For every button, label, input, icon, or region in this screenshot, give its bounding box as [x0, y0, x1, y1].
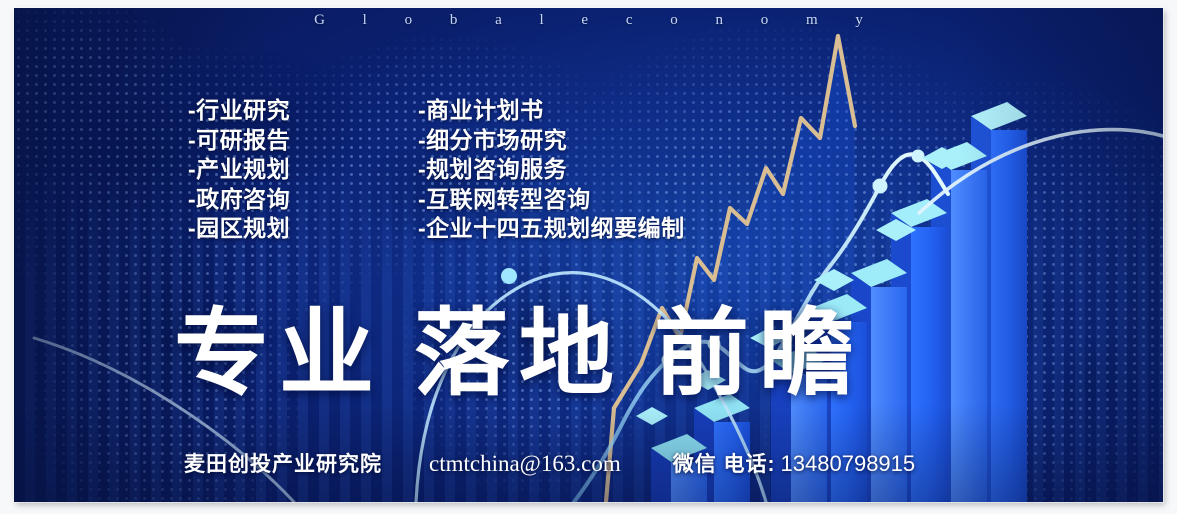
edge-vignette [14, 8, 1163, 502]
service-item: -规划咨询服务 [418, 155, 685, 185]
services-list-left: -行业研究 -可研报告 -产业规划 -政府咨询 -园区规划 [188, 96, 290, 244]
service-item: -商业计划书 [418, 96, 685, 126]
headline-word-3: 前瞻 [654, 301, 864, 407]
promo-banner: G l o b a l e c o n o m y -行业研究 -可研报告 -产… [14, 8, 1163, 502]
service-item: -园区规划 [188, 214, 290, 244]
tagline-global-economy: G l o b a l e c o n o m y [14, 12, 1163, 29]
service-item: -行业研究 [188, 96, 290, 126]
service-item: -可研报告 [188, 126, 290, 156]
services-list-right: -商业计划书 -细分市场研究 -规划咨询服务 -互联网转型咨询 -企业十四五规划… [418, 96, 685, 244]
headline-word-2: 落地 [414, 301, 624, 407]
service-item: -细分市场研究 [418, 126, 685, 156]
service-item: -政府咨询 [188, 185, 290, 215]
contact-footer: 麦田创投产业研究院 ctmtchina@163.com 微信 电话: 13480… [184, 448, 915, 478]
organization-name: 麦田创投产业研究院 [184, 448, 382, 478]
service-item: -产业规划 [188, 155, 290, 185]
service-item: -互联网转型咨询 [418, 185, 685, 215]
service-item: -企业十四五规划纲要编制 [418, 214, 685, 244]
headline-slogan: 专业落地前瞻 [174, 304, 864, 404]
email-address[interactable]: ctmtchina@163.com [429, 451, 621, 477]
phone-number[interactable]: 13480798915 [781, 451, 916, 477]
wechat-phone-label: 微信 电话: [673, 448, 776, 478]
headline-word-1: 专业 [174, 301, 384, 407]
